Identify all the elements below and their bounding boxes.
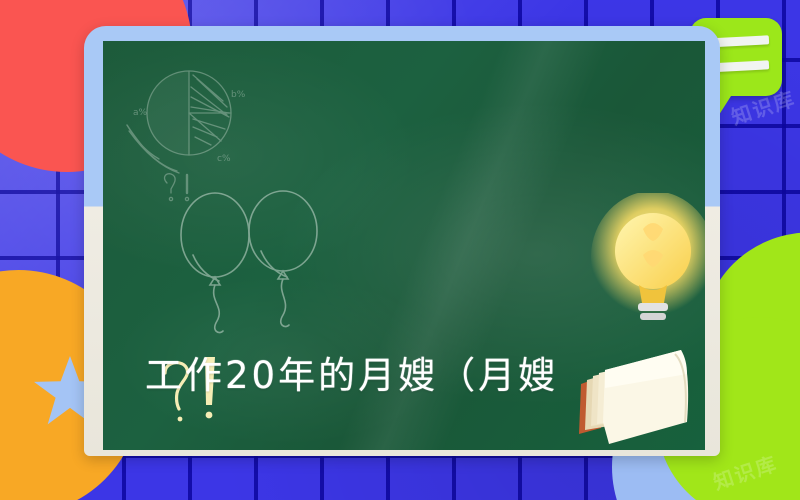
svg-text:a%: a% <box>133 108 148 118</box>
page-title: 工作20年的月嫂（月嫂 工作年限） <box>103 191 705 450</box>
chalkboard-surface: a% b% c% <box>103 41 705 450</box>
svg-text:c%: c% <box>217 154 231 164</box>
pie-chart-sketch-icon: a% b% c% <box>117 53 267 203</box>
svg-text:b%: b% <box>231 90 246 100</box>
page-title-line-1: 工作20年的月嫂（月嫂 <box>103 339 705 413</box>
